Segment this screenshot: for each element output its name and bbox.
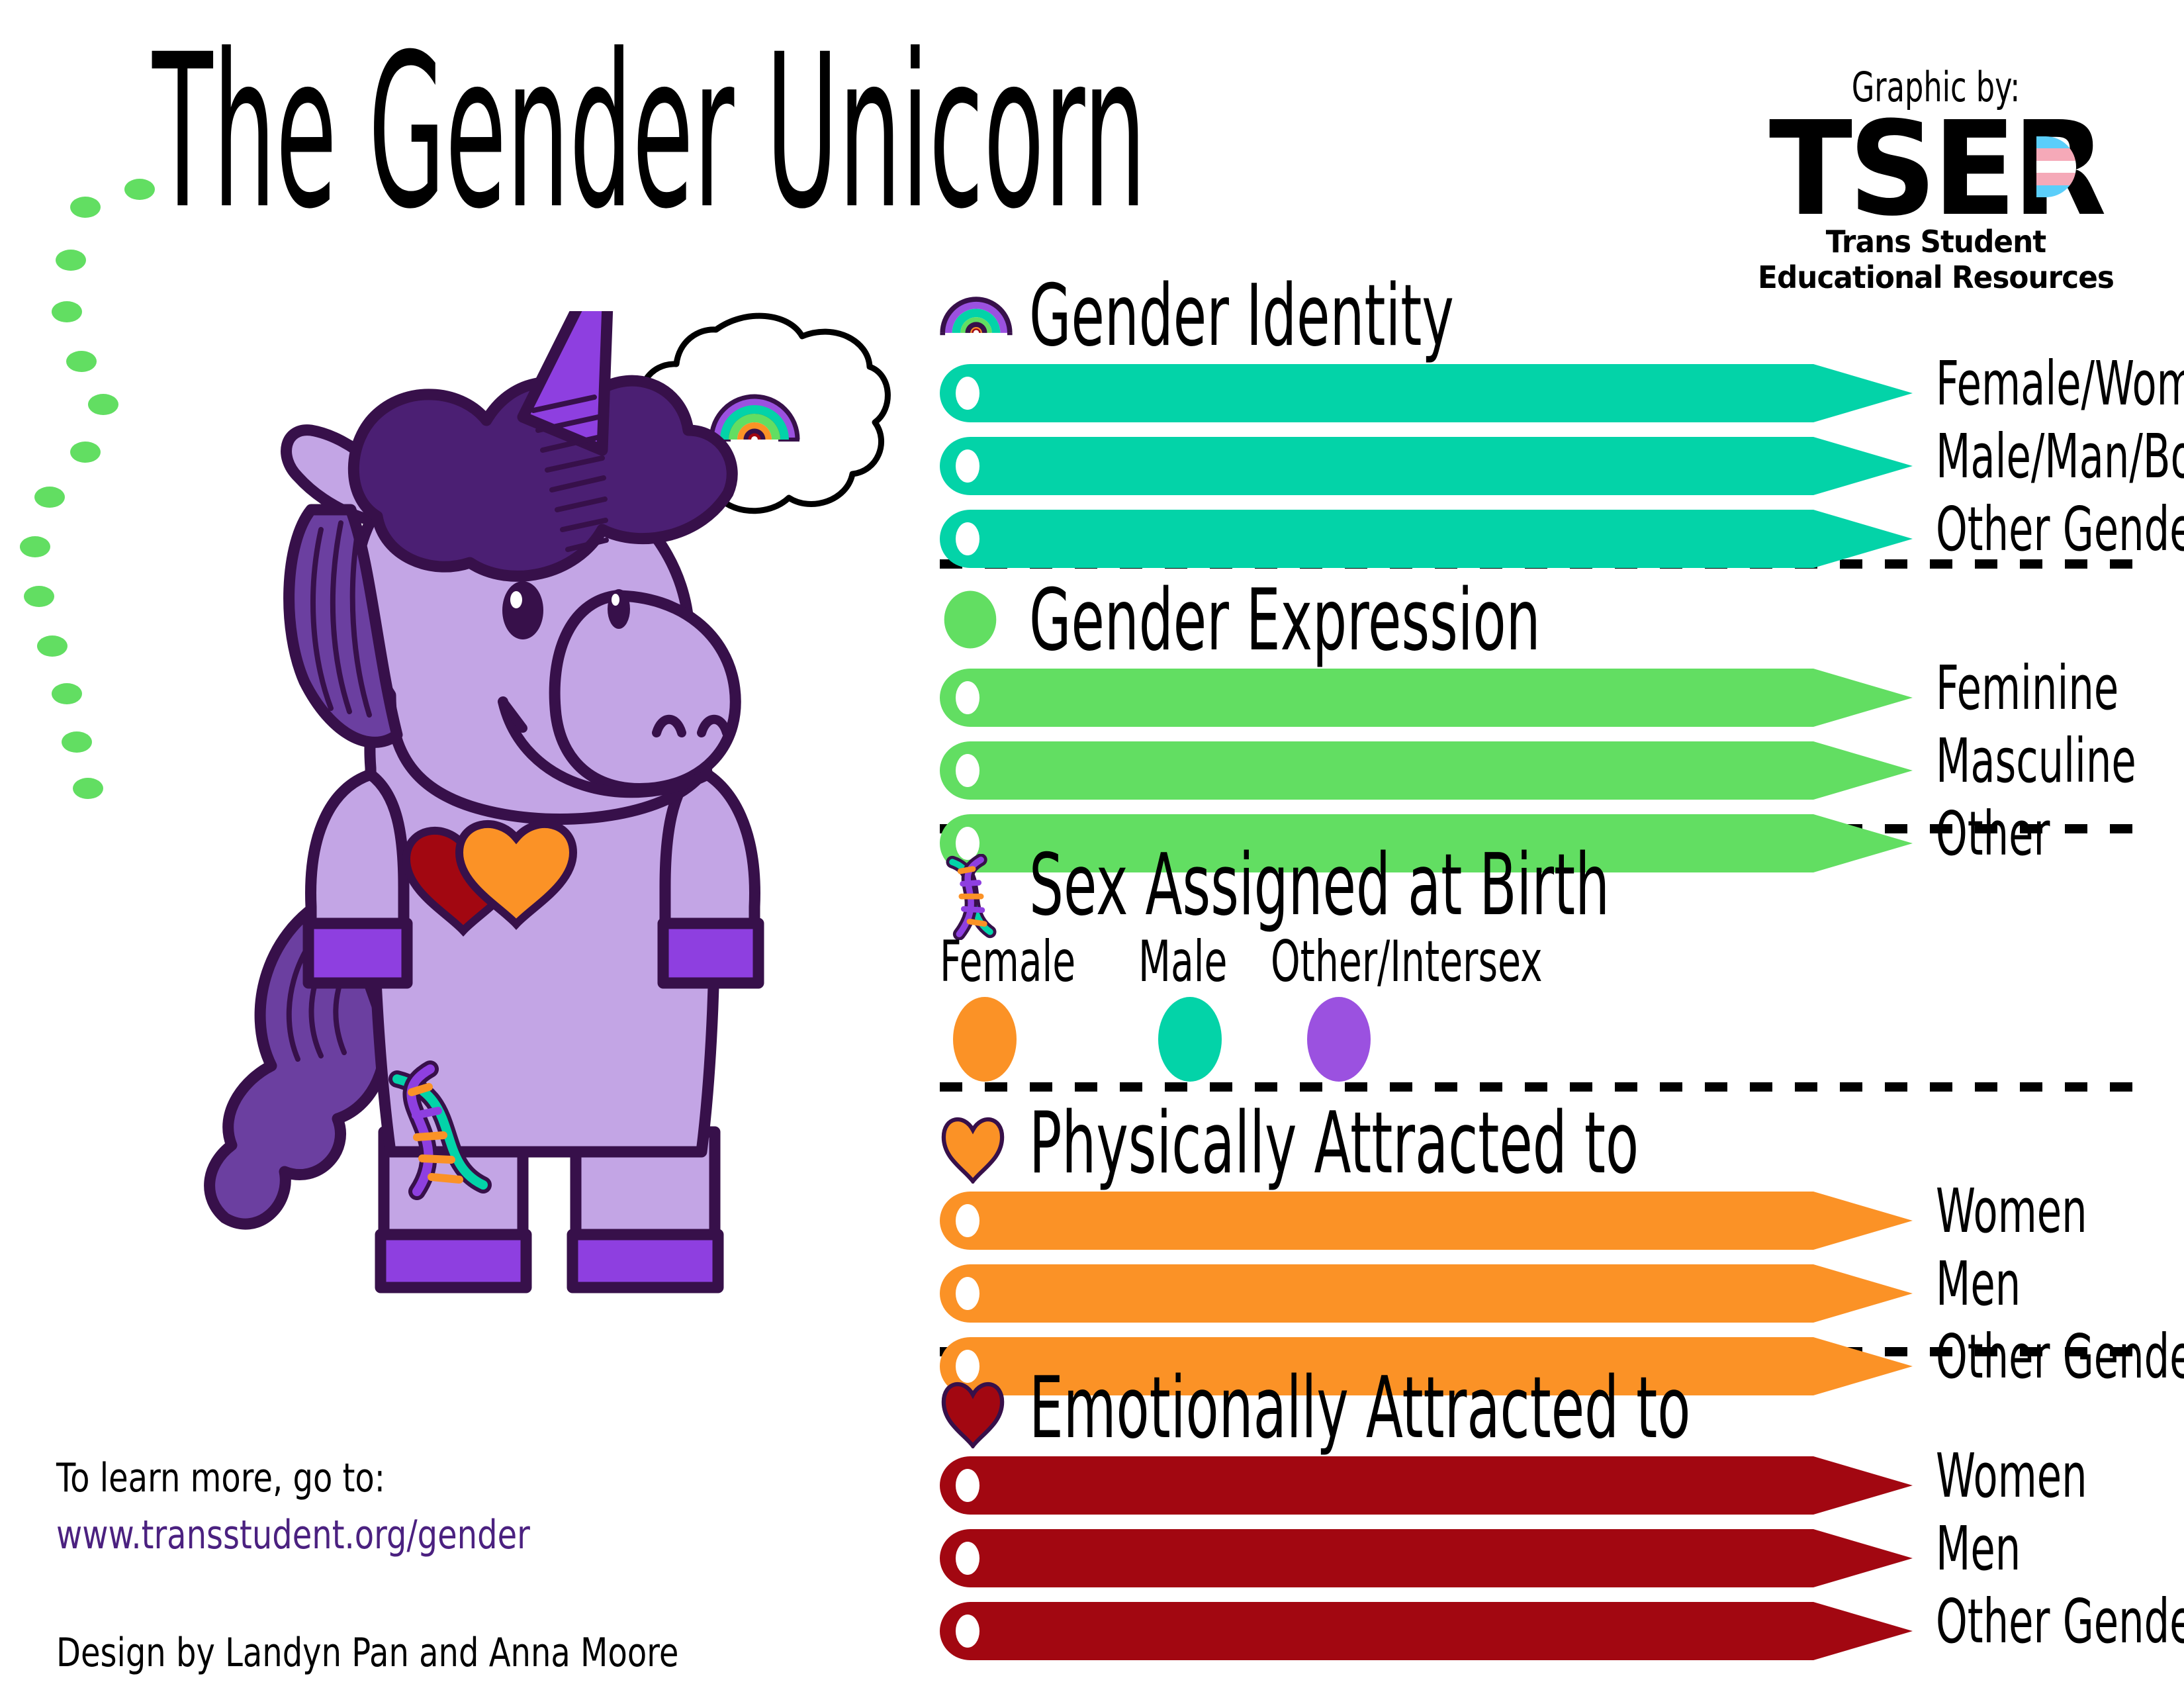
spectrum-rows: Women Men Other Gender(s) xyxy=(940,1456,2151,1660)
green-dot xyxy=(88,394,118,415)
unicorn-illustration xyxy=(179,311,860,1370)
sex-option-dot[interactable] xyxy=(1307,997,1371,1082)
green-dot xyxy=(70,197,101,218)
spectrum-arrow[interactable] xyxy=(940,669,1913,727)
spectrum-label: Other Gender(s) xyxy=(1936,499,2184,560)
definitions-column: Gender Identity Female/Woman/Girl Male/M… xyxy=(940,0,2151,1688)
spectrum-label: Feminine xyxy=(1936,658,2118,719)
section-header: Sex Assigned at Birth xyxy=(940,854,2151,933)
spectrum-label: Female/Woman/Girl xyxy=(1936,353,2184,414)
section-heading: Physically Attracted to xyxy=(1029,1102,1639,1186)
spectrum-arrow[interactable] xyxy=(940,1456,1913,1515)
learn-more-label: To learn more, go to: xyxy=(56,1450,692,1507)
section-sex-assigned-at-birth: Sex Assigned at BirthFemaleMaleOther/Int… xyxy=(940,854,2151,1099)
footer: To learn more, go to: www.transstudent.o… xyxy=(56,1450,850,1681)
green-circle-icon xyxy=(940,589,1013,662)
section-heading: Emotionally Attracted to xyxy=(1029,1366,1690,1451)
green-dot xyxy=(20,536,50,557)
orange-heart-icon xyxy=(940,1112,1013,1185)
spectrum-row[interactable]: Masculine xyxy=(940,741,2151,800)
spectrum-arrow[interactable] xyxy=(940,364,1913,422)
spectrum-arrow[interactable] xyxy=(940,741,1913,800)
section-heading: Gender Expression xyxy=(1029,579,1541,663)
dna-icon xyxy=(940,854,1013,927)
spectrum-arrow[interactable] xyxy=(940,437,1913,495)
section-gender-identity: Gender Identity Female/Woman/Girl Male/M… xyxy=(940,285,2151,583)
green-dot xyxy=(52,683,82,704)
spectrum-row[interactable]: Women xyxy=(940,1456,2151,1515)
spectrum-label: Women xyxy=(1936,1181,2087,1242)
section-heading: Gender Identity xyxy=(1029,274,1454,359)
spectrum-row[interactable]: Women xyxy=(940,1192,2151,1250)
green-dot xyxy=(62,731,92,753)
green-dot xyxy=(24,586,54,607)
spectrum-label: Women xyxy=(1936,1446,2087,1507)
spectrum-row[interactable]: Other Gender(s) xyxy=(940,510,2151,568)
spectrum-label: Male/Man/Boy xyxy=(1936,426,2184,487)
spectrum-arrow[interactable] xyxy=(940,1264,1913,1323)
spectrum-label: Other Gender(s) xyxy=(1936,1591,2184,1652)
green-dot xyxy=(52,301,82,322)
spectrum-row[interactable]: Other Gender(s) xyxy=(940,1602,2151,1660)
spectrum-row[interactable]: Female/Woman/Girl xyxy=(940,364,2151,422)
green-dot xyxy=(56,250,86,271)
website-link[interactable]: www.transstudent.org/gender xyxy=(56,1507,692,1564)
sex-option-label: Male xyxy=(1138,933,1227,990)
spectrum-row[interactable]: Male/Man/Boy xyxy=(940,437,2151,495)
green-dot xyxy=(124,179,155,200)
page-title-text: The Gender Unicorn xyxy=(152,26,1066,238)
spectrum-arrow[interactable] xyxy=(940,1192,1913,1250)
spectrum-label: Masculine xyxy=(1936,731,2136,792)
rainbow-icon xyxy=(940,285,1013,357)
sex-options: FemaleMaleOther/Intersex xyxy=(940,933,2151,1099)
sex-option-label: Female xyxy=(940,933,1075,990)
sex-option-dot[interactable] xyxy=(1158,997,1222,1082)
spectrum-arrow[interactable] xyxy=(940,510,1913,568)
green-dot xyxy=(37,635,68,657)
sex-option-dot[interactable] xyxy=(953,997,1017,1082)
spectrum-row[interactable]: Men xyxy=(940,1264,2151,1323)
green-dot xyxy=(66,351,97,372)
spectrum-label: Men xyxy=(1936,1519,2021,1579)
spectrum-arrow[interactable] xyxy=(940,1602,1913,1660)
section-heading: Sex Assigned at Birth xyxy=(1029,843,1610,928)
red-heart-icon xyxy=(940,1377,1013,1450)
spectrum-rows: Female/Woman/Girl Male/Man/Boy Other Gen… xyxy=(940,364,2151,568)
sex-option-label: Other/Intersex xyxy=(1271,933,1543,990)
design-credit: Design by Landyn Pan and Anna Moore xyxy=(56,1624,692,1681)
spectrum-row[interactable]: Men xyxy=(940,1529,2151,1587)
spectrum-row[interactable]: Feminine xyxy=(940,669,2151,727)
section-emotionally-attracted-to: Emotionally Attracted to Women Men Other… xyxy=(940,1377,2151,1675)
spectrum-label: Men xyxy=(1936,1254,2021,1315)
spectrum-arrow[interactable] xyxy=(940,1529,1913,1587)
green-dot xyxy=(73,778,103,799)
green-dot xyxy=(34,487,65,508)
green-dot xyxy=(70,442,101,463)
